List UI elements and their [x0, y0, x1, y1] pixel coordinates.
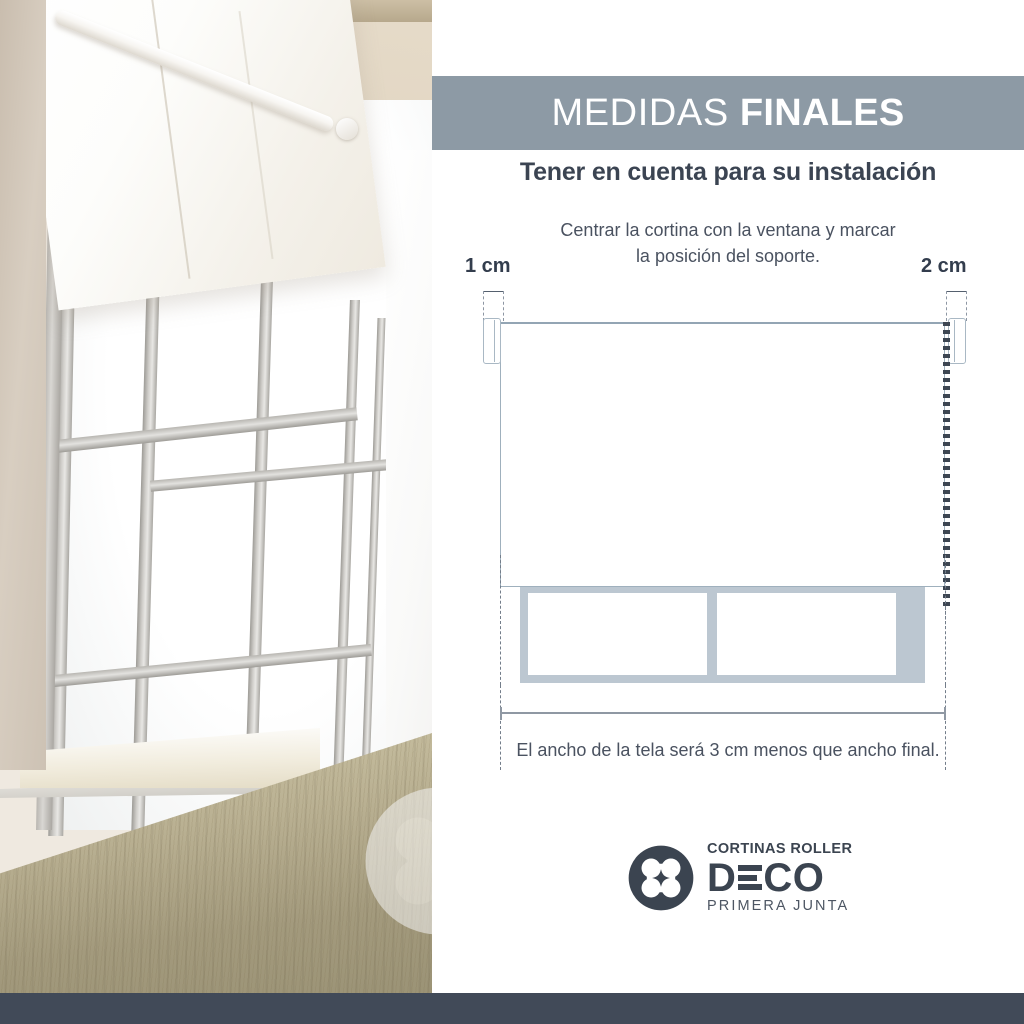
photo-roller-fabric	[16, 0, 385, 310]
mounting-bracket-right	[948, 318, 966, 364]
logo-e-bars-icon	[738, 863, 762, 893]
photo-roller-end-cap	[336, 118, 358, 140]
logo-tagline-top: CORTINAS ROLLER	[707, 842, 852, 857]
clover-logo-icon	[628, 845, 694, 911]
dimension-label-left: 1 cm	[465, 255, 511, 278]
window-pane-left	[528, 593, 707, 675]
logo-name: D CO	[707, 858, 852, 898]
logo-wordmark: CORTINAS ROLLER D CO PRIMERA JUNTA	[707, 842, 852, 913]
extension-line-right	[945, 555, 946, 685]
info-panel: MEDIDAS FINALES Tener en cuenta para su …	[432, 0, 1024, 993]
photo-left-wall	[0, 0, 46, 770]
product-photo	[0, 0, 432, 993]
mounting-bracket-left	[483, 318, 501, 364]
roller-blind-panel	[500, 322, 945, 587]
watermark-logo-icon	[364, 786, 432, 936]
window-pane-right	[717, 593, 896, 675]
logo-name-co: CO	[763, 858, 824, 898]
gap-tick-left-line-a	[483, 291, 484, 321]
installation-diagram: 1 cm 2 cm	[432, 255, 1024, 725]
page-root: MEDIDAS FINALES Tener en cuenta para su …	[0, 0, 1024, 1024]
gap-tick-left-cap	[483, 291, 504, 292]
total-width-dimension-line	[500, 712, 946, 714]
brand-logo: CORTINAS ROLLER D CO PRIMERA JUNTA	[628, 842, 852, 913]
instruction-note-bottom: El ancho de la tela será 3 cm menos que …	[432, 740, 1024, 761]
dimension-label-right: 2 cm	[921, 255, 967, 278]
gap-tick-left-line-b	[503, 291, 504, 321]
extension-line-left	[500, 555, 501, 685]
page-subtitle: Tener en cuenta para su instalación	[432, 158, 1024, 187]
logo-tagline-bottom: PRIMERA JUNTA	[707, 899, 852, 914]
banner-title-light: MEDIDAS	[551, 92, 728, 135]
window-frame	[520, 585, 925, 683]
logo-name-d: D	[707, 858, 736, 898]
bracket-right-divider	[954, 320, 955, 362]
instruction-line-1: Centrar la cortina con la ventana y marc…	[432, 218, 1024, 244]
bracket-left-divider	[494, 320, 495, 362]
total-width-end-right	[944, 707, 946, 720]
footer-bar	[0, 993, 1024, 1024]
total-width-end-left	[500, 707, 502, 720]
banner-title-bold: FINALES	[740, 92, 905, 135]
roller-blind-headrail	[500, 322, 945, 324]
gap-tick-right-cap	[946, 291, 967, 292]
header-banner: MEDIDAS FINALES	[432, 76, 1024, 150]
gap-tick-right-line-b	[966, 291, 967, 321]
gap-tick-right-line-a	[946, 291, 947, 321]
